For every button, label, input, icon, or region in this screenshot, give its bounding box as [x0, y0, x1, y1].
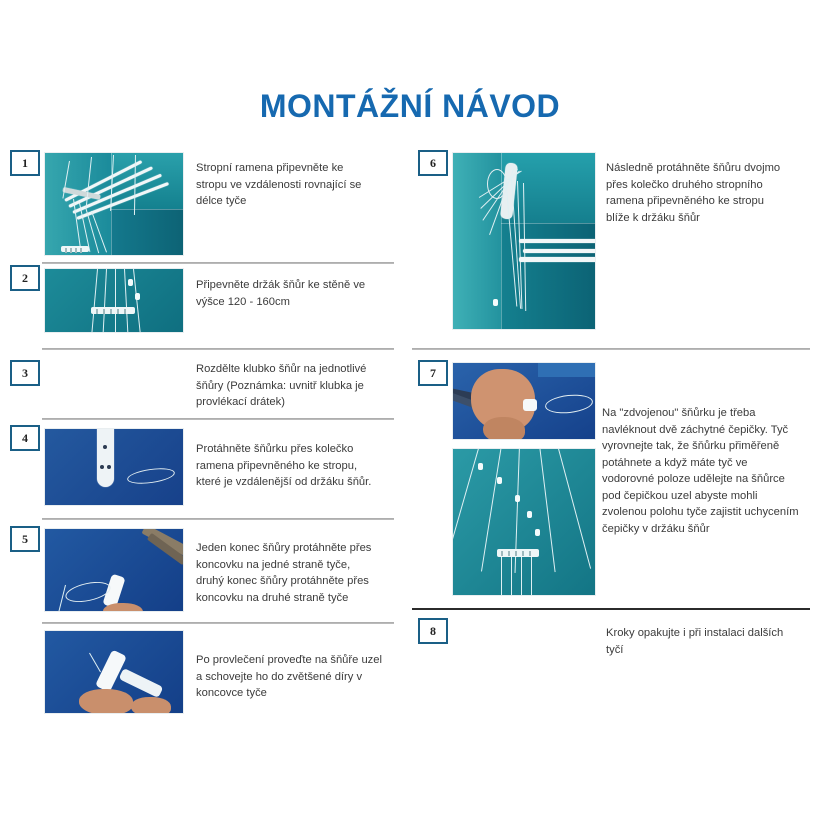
step-badge-3: 3 — [10, 360, 40, 386]
step-badge-4: 4 — [10, 425, 40, 451]
divider-3 — [42, 418, 394, 420]
step-badge-1: 1 — [10, 150, 40, 176]
instruction-sheet: MONTÁŽNÍ NÁVOD 1 — [0, 0, 820, 820]
divider-2 — [42, 348, 394, 350]
step-number-7: 7 — [420, 362, 446, 384]
arm-pulley-photo — [44, 428, 184, 506]
second-arm-photo — [452, 152, 596, 330]
caps-on-cords-photo — [452, 448, 596, 596]
step-number-2: 2 — [12, 267, 38, 289]
cap-in-hand-photo — [452, 362, 596, 440]
step-badge-2: 2 — [10, 265, 40, 291]
step-text-3: Rozdělte klubko šňůr na jednotlivé šňůry… — [196, 361, 391, 411]
step-number-1: 1 — [12, 152, 38, 174]
step-text-7: Na "zdvojenou" šňůrku je třeba navléknou… — [602, 405, 814, 537]
step-badge-6: 6 — [418, 150, 448, 176]
divider-4 — [42, 518, 394, 520]
step-number-5: 5 — [12, 528, 38, 550]
step-number-4: 4 — [12, 427, 38, 449]
step-text-2: Připevněte držák šňůr ke stěně ve výšce … — [196, 277, 386, 310]
step-number-3: 3 — [12, 362, 38, 384]
cord-holder-photo — [44, 268, 184, 333]
step-number-6: 6 — [420, 152, 446, 174]
step-text-5: Jeden konec šňůry protáhněte přes koncov… — [196, 540, 392, 606]
ceiling-arms-photo — [44, 152, 184, 256]
step-text-1: Stropní ramena připevněte ke stropu ve v… — [196, 160, 386, 210]
divider-5 — [42, 622, 394, 624]
divider-7 — [412, 608, 810, 610]
step-number-8: 8 — [420, 620, 446, 642]
page-title: MONTÁŽNÍ NÁVOD — [0, 88, 820, 125]
divider-6 — [412, 348, 810, 350]
knot-endcap-photo — [44, 630, 184, 714]
step-badge-7: 7 — [418, 360, 448, 386]
step-text-8: Kroky opakujte i při instalaci dalších t… — [606, 625, 811, 658]
step-text-5-extra: Po provlečení proveďte na šňůře uzel a s… — [196, 652, 392, 702]
divider-1 — [42, 262, 394, 264]
rod-endcap-photo — [44, 528, 184, 612]
step-text-6: Následně protáhněte šňůru dvojmo přes ko… — [606, 160, 811, 226]
step-badge-8: 8 — [418, 618, 448, 644]
step-text-4: Protáhněte šňůrku přes kolečko ramena př… — [196, 441, 392, 491]
step-badge-5: 5 — [10, 526, 40, 552]
